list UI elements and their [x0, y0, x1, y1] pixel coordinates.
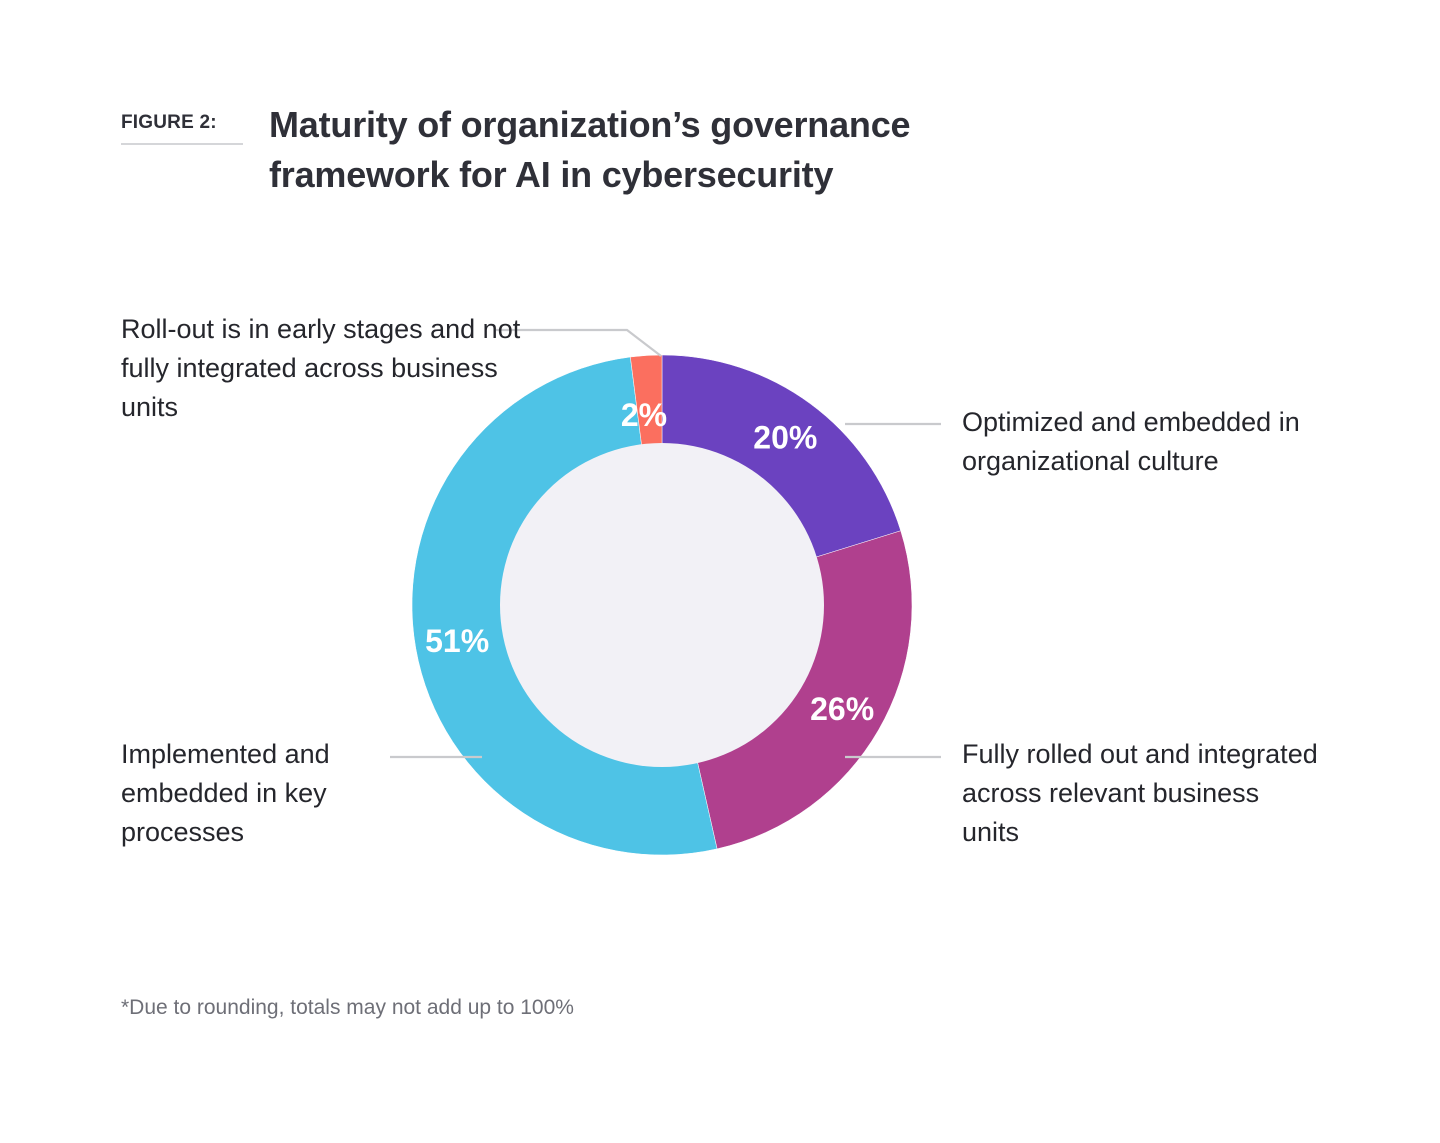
donut-slice[interactable]	[662, 355, 901, 605]
donut-value-label: 20%	[753, 420, 817, 456]
page-title: Maturity of organization’s governance fr…	[269, 100, 989, 199]
donut-slice[interactable]	[412, 357, 717, 855]
callout-label-implemented: Implemented and embedded in key processe…	[121, 735, 451, 852]
donut-center-hole	[500, 443, 824, 767]
donut-value-label: 26%	[810, 691, 874, 727]
donut-value-label: 2%	[621, 397, 667, 433]
donut-value-labels: 20%26%51%2%	[425, 397, 874, 727]
figure-label-underline	[121, 143, 243, 145]
donut-slice[interactable]	[630, 355, 662, 605]
donut-slice[interactable]	[662, 531, 912, 849]
callout-label-optimized: Optimized and embedded in organizational…	[962, 403, 1312, 481]
donut-slice-group	[412, 355, 912, 855]
donut-value-label: 51%	[425, 623, 489, 659]
figure-number-label: FIGURE 2:	[121, 112, 243, 143]
figure-label-block: FIGURE 2:	[121, 112, 243, 145]
rounding-footnote: *Due to rounding, totals may not add up …	[121, 996, 574, 1020]
figure-header: FIGURE 2: Maturity of organization’s gov…	[121, 100, 989, 199]
callout-label-early-stages: Roll-out is in early stages and not full…	[121, 310, 521, 427]
callout-label-fully-rolled-out: Fully rolled out and integrated across r…	[962, 735, 1322, 852]
